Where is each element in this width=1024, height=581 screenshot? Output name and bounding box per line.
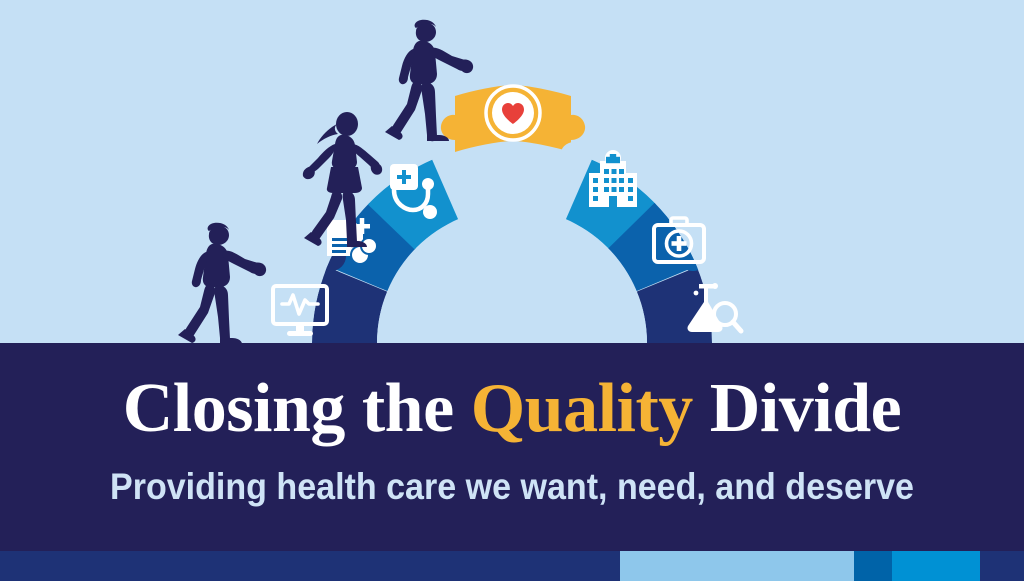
notch-right-upper — [560, 142, 588, 170]
footer-segment-navy-end — [980, 551, 1024, 581]
title-band: Closing the Quality Divide Providing hea… — [0, 343, 1024, 551]
footer-segment-cyan — [892, 551, 980, 581]
headline-part-1: Closing the — [123, 370, 471, 447]
footer-color-bar — [0, 551, 1024, 581]
headline-part-2: Divide — [693, 370, 901, 447]
arch-illustration: Seven-piece jigsaw arch bridging a gap, … — [0, 0, 1024, 343]
footer-segment-mid-blue — [854, 551, 892, 581]
walking-figure-man-ground — [178, 223, 266, 343]
footer-segment-light-blue — [620, 551, 854, 581]
headline-accent-word: Quality — [471, 370, 693, 447]
arch-piece-keystone — [441, 81, 585, 152]
arch-svg — [0, 0, 1024, 343]
page-subtitle: Providing health care we want, need, and… — [41, 465, 983, 509]
hospital-building-icon — [589, 150, 637, 207]
page-title: Closing the Quality Divide — [0, 371, 1024, 447]
heart-in-circle-icon — [486, 86, 540, 140]
poster-root: Seven-piece jigsaw arch bridging a gap, … — [0, 0, 1024, 581]
